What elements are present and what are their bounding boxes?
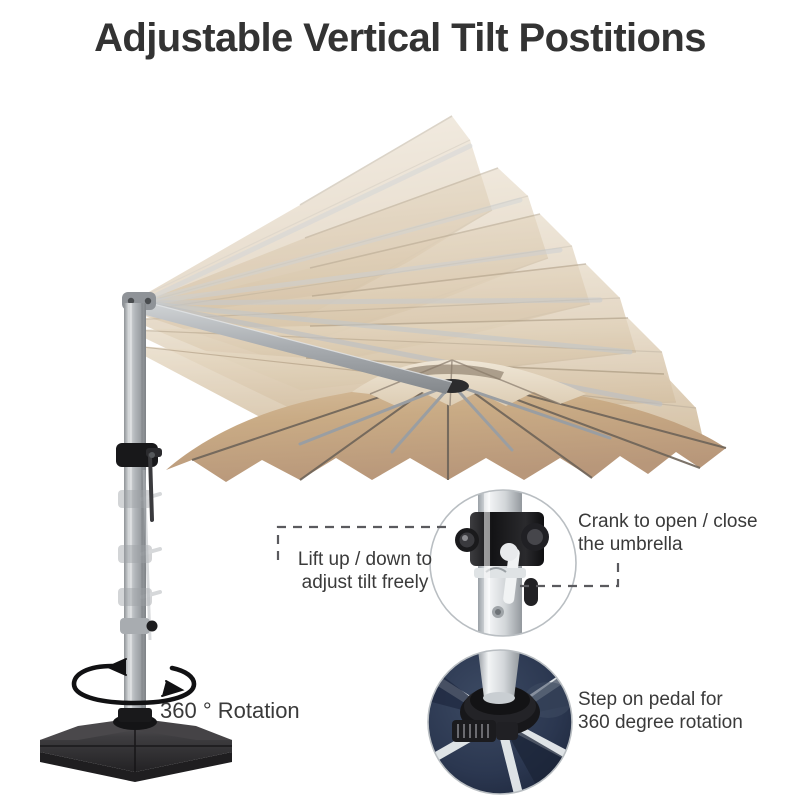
- callout-tilt-text: Lift up / down to adjust tilt freely: [250, 548, 480, 594]
- infographic-canvas: [0, 0, 800, 800]
- pole-column: [124, 303, 146, 723]
- callout-pedal-text: Step on pedal for 360 degree rotation: [578, 688, 793, 734]
- callout-crank-text: Crank to open / close the umbrella: [578, 510, 788, 556]
- rotation-label: 360 ° Rotation: [160, 698, 300, 724]
- page-title: Adjustable Vertical Tilt Postitions: [0, 16, 800, 61]
